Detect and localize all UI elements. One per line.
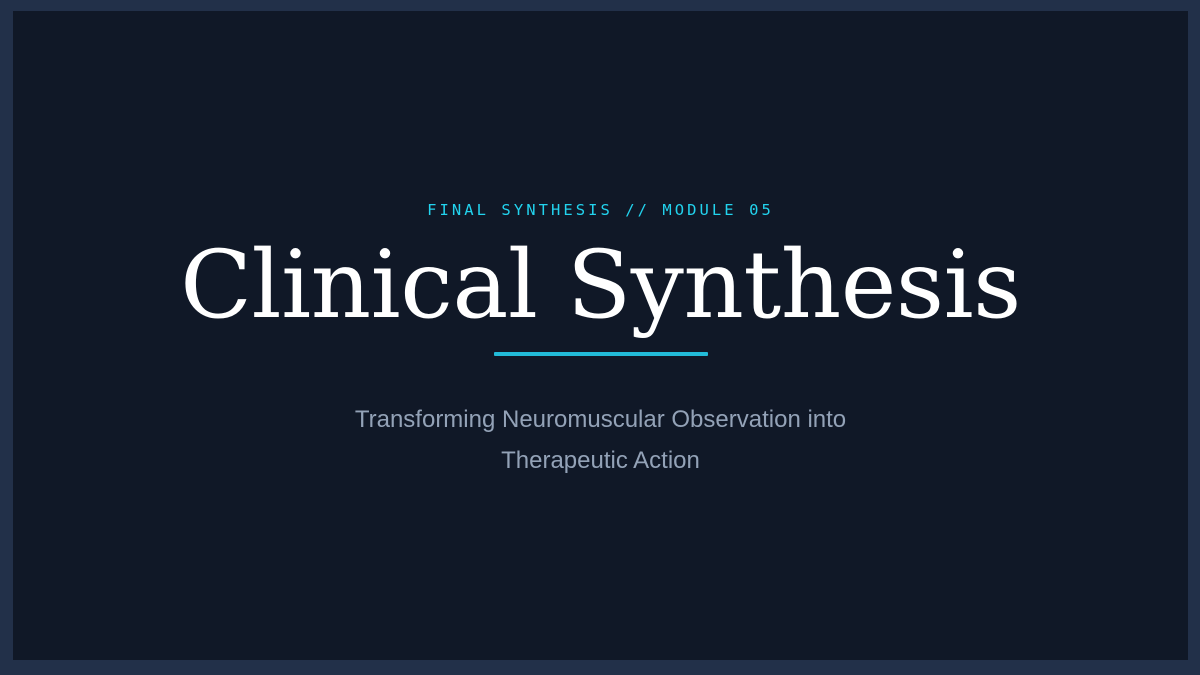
slide-eyebrow: FINAL SYNTHESIS // MODULE 05 [427,200,774,220]
title-slide: FINAL SYNTHESIS // MODULE 05 Clinical Sy… [13,11,1188,660]
slide-title: Clinical Synthesis [180,234,1021,338]
presentation-frame: FINAL SYNTHESIS // MODULE 05 Clinical Sy… [0,0,1200,675]
accent-divider [494,352,708,356]
slide-content: FINAL SYNTHESIS // MODULE 05 Clinical Sy… [13,11,1188,660]
slide-subtitle: Transforming Neuromuscular Observation i… [291,399,911,481]
